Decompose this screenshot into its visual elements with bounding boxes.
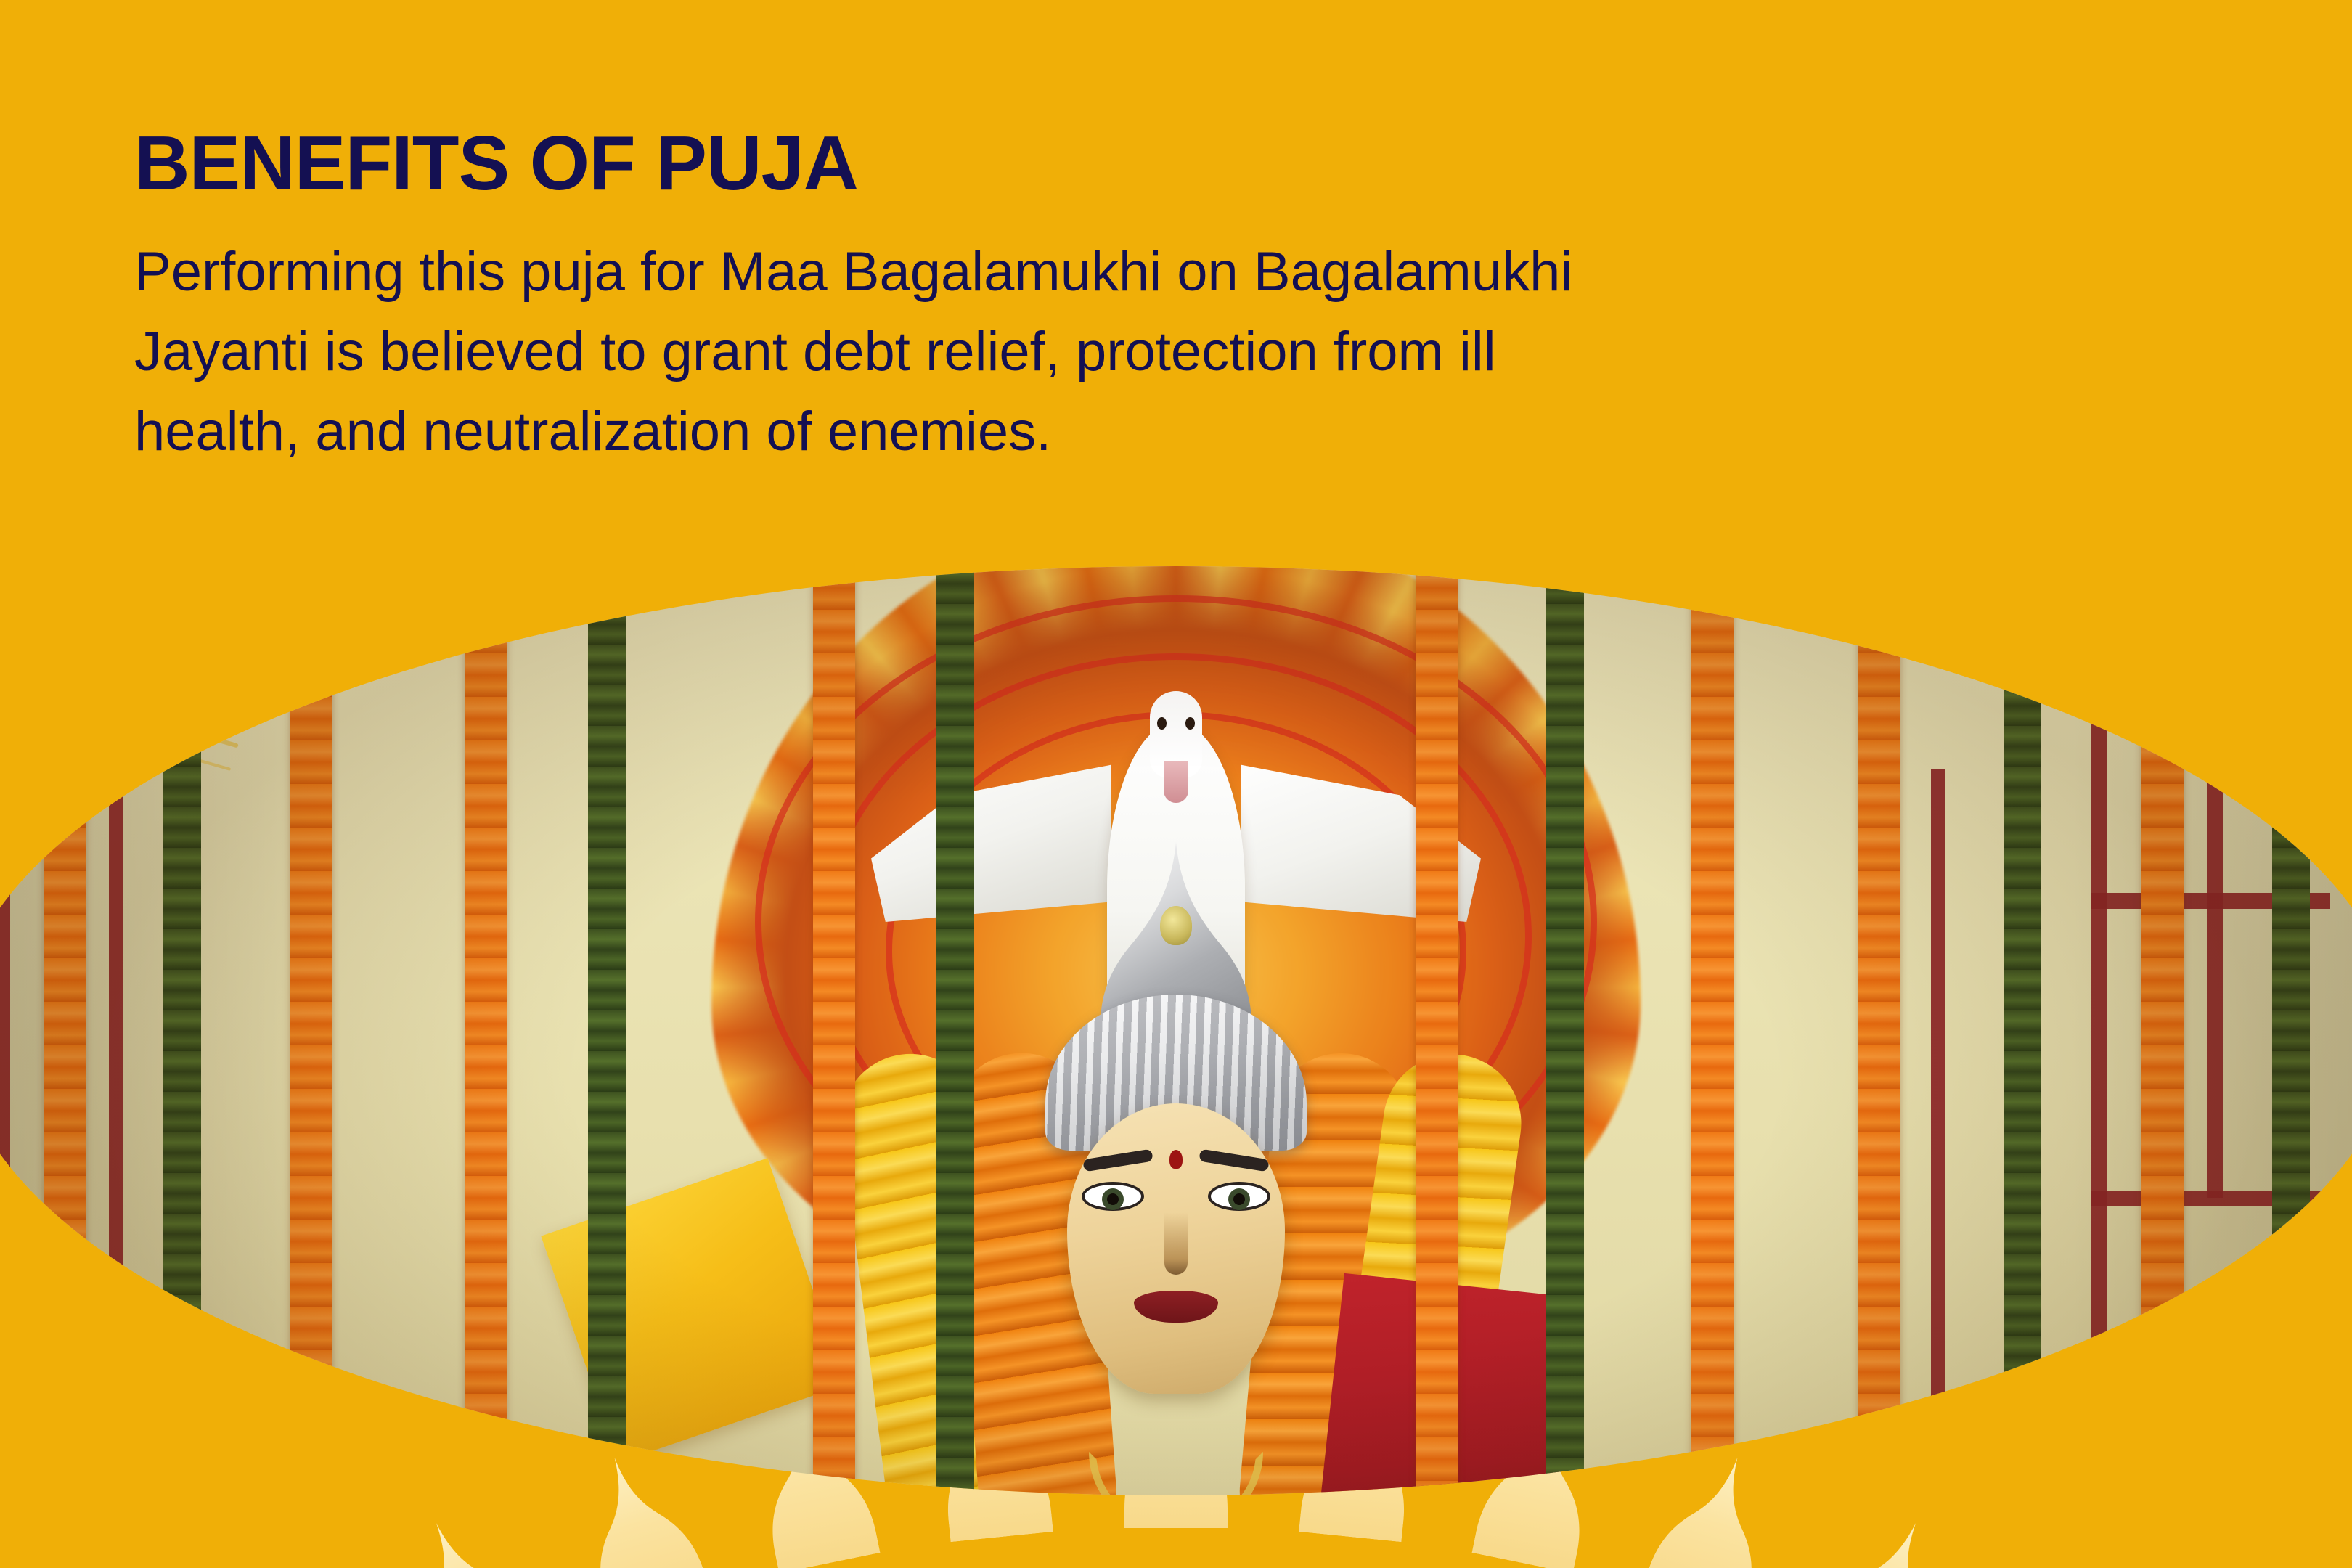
arch-scallop	[1126, 1502, 1966, 1568]
hanging-leaf-strand	[936, 552, 974, 1568]
body-paragraph: Performing this puja for Maa Bagalamukhi…	[134, 232, 2152, 473]
hanging-marigold-garland	[44, 552, 86, 1568]
wall-trim-line	[2207, 719, 2223, 1198]
page-title: BENEFITS OF PUJA	[134, 125, 2167, 202]
hanging-marigold-garland	[290, 552, 332, 1568]
hanging-leaf-strand	[1546, 552, 1584, 1568]
hanging-leaf-strand	[588, 552, 626, 1568]
body-line-2: Jayanti is believed to grant debt relief…	[134, 312, 2152, 392]
deity-face	[1067, 1103, 1285, 1394]
swan-eye-right	[1185, 717, 1195, 730]
wall-trim-line	[0, 639, 10, 1568]
pupil-left	[1102, 1188, 1124, 1210]
hanging-marigold-garland	[465, 552, 507, 1568]
hanging-marigold-garland	[813, 552, 855, 1568]
hanging-leaf-strand	[2272, 552, 2310, 1568]
body-line-3: health, and neutralization of enemies.	[134, 392, 2152, 472]
temple-wall-background	[0, 552, 2352, 1568]
arch-scallop-shape	[1805, 1502, 1966, 1568]
hanging-marigold-garland	[1858, 552, 1900, 1568]
hanging-leaf-strand	[163, 552, 201, 1568]
hanging-leaf-strand	[2004, 552, 2041, 1568]
deity-photo	[0, 552, 2352, 1568]
pupil-right	[1228, 1188, 1250, 1210]
deity-photo-stage	[0, 552, 2352, 1568]
swan-eye-left	[1157, 717, 1167, 730]
nose-ring-chain	[113, 682, 247, 725]
wall-trim-line	[109, 769, 123, 1568]
arch-scallop	[386, 1502, 1226, 1568]
wall-trim-line	[1931, 769, 1945, 1568]
arch-scallop-shape	[386, 1502, 547, 1568]
eye-left	[1082, 1182, 1144, 1211]
nose	[1164, 1212, 1188, 1275]
hanging-marigold-garland	[1416, 552, 1458, 1568]
swan-beak	[1164, 761, 1188, 803]
arch-scallop-shape	[563, 1441, 713, 1568]
hanging-marigold-garland	[2141, 552, 2184, 1568]
arch-scallop-shape	[1639, 1441, 1789, 1568]
gold-necklace	[1089, 1452, 1263, 1532]
body-line-1: Performing this puja for Maa Bagalamukhi…	[134, 232, 2152, 312]
silver-crown-icon	[1045, 842, 1307, 1147]
crown-gem	[1160, 906, 1192, 945]
eye-right	[1208, 1182, 1270, 1211]
tilak-mark	[1169, 1150, 1183, 1169]
hanging-marigold-garland	[1691, 552, 1734, 1568]
text-block: BENEFITS OF PUJA Performing this puja fo…	[134, 125, 2167, 473]
eyebrow-right	[1199, 1149, 1269, 1172]
eyebrow-left	[1082, 1149, 1153, 1172]
mouth	[1134, 1291, 1218, 1323]
wall-trim-line	[2091, 719, 2107, 1568]
